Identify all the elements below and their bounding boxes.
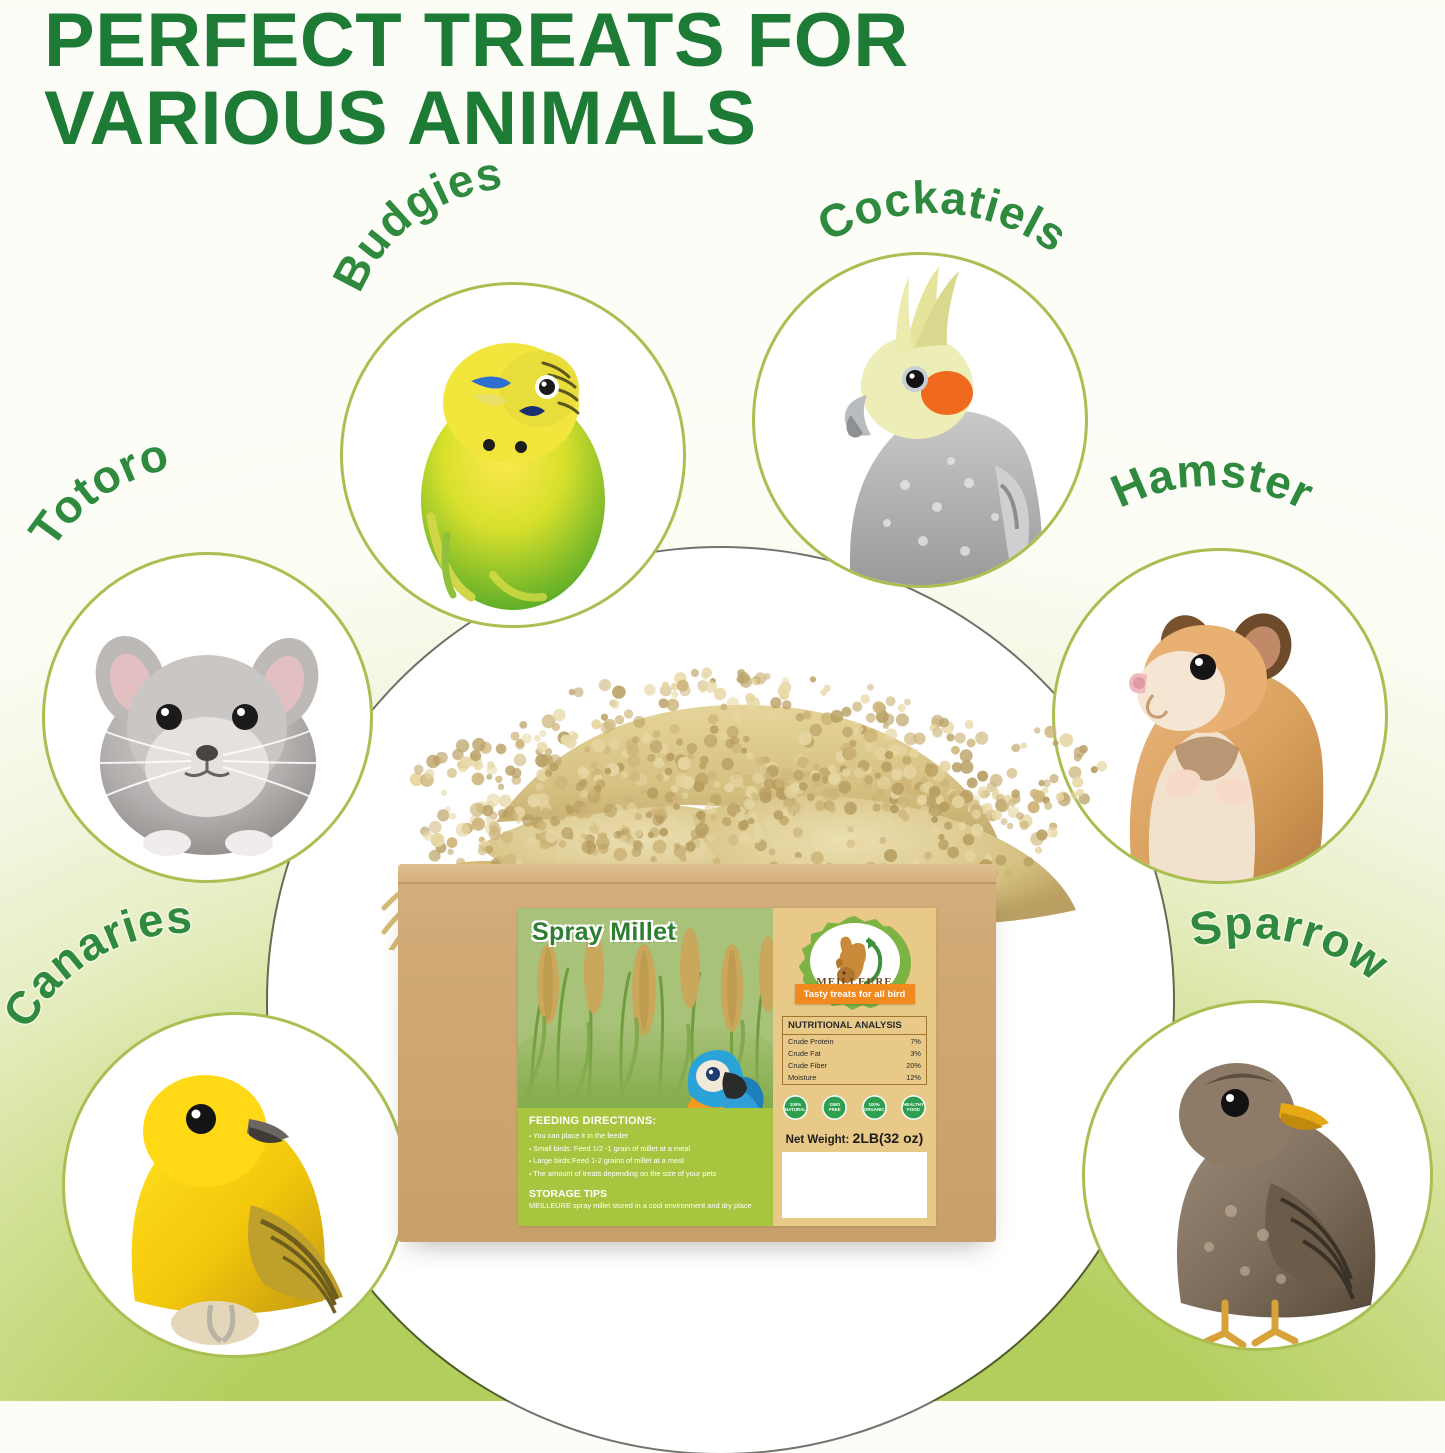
cert-line2: ORGANIC bbox=[864, 1108, 885, 1113]
infographic-canvas: PERFECT TREATS FOR VARIOUS ANIMALS bbox=[0, 0, 1445, 1401]
nutrition-title: NUTRITIONAL ANALYSIS bbox=[783, 1017, 926, 1035]
nutrition-name: Crude Fiber bbox=[783, 1059, 882, 1071]
brand-seal: MEILLEURE Tasty treats for all bird bbox=[799, 916, 911, 1010]
product-label: Spray Millet bbox=[518, 908, 936, 1226]
pet-label-hamster-text: Hamster bbox=[1103, 443, 1322, 519]
net-weight-value: 2LB(32 oz) bbox=[853, 1130, 924, 1146]
nutrition-table: NUTRITIONAL ANALYSIS Crude Protein 7% Cr… bbox=[782, 1016, 927, 1085]
nutrition-rows: Crude Protein 7% Crude Fat 3% Crude Fibe… bbox=[783, 1035, 926, 1084]
net-weight-label: Net Weight: bbox=[786, 1134, 850, 1146]
label-artwork-panel: Spray Millet bbox=[518, 908, 773, 1226]
page-title: PERFECT TREATS FOR VARIOUS ANIMALS bbox=[44, 2, 1044, 159]
certification-badges: 100% NATURAL GMO FREE 100% ORGANIC HEA bbox=[783, 1095, 926, 1120]
nutrition-value: 12% bbox=[882, 1072, 926, 1084]
feeding-directions-list: You can place it in the feeder Small bir… bbox=[529, 1130, 764, 1181]
storage-tips-text: MEILLEURE spray millet stored in a cool … bbox=[529, 1201, 764, 1211]
cert-badge-healthy: HEALTHY FOOD bbox=[901, 1095, 926, 1120]
pet-circle-cockatiels bbox=[752, 252, 1088, 588]
nutrition-value: 3% bbox=[882, 1047, 926, 1059]
label-info-panel: MEILLEURE Tasty treats for all bird NUTR… bbox=[773, 908, 936, 1226]
pet-label-budgies-text: Budgies bbox=[322, 146, 506, 299]
nutrition-name: Crude Fat bbox=[783, 1047, 882, 1059]
nutrition-name: Crude Protein bbox=[783, 1035, 882, 1047]
cert-badge-gmo-free: GMO FREE bbox=[822, 1095, 847, 1120]
nutrition-value: 7% bbox=[882, 1035, 926, 1047]
pet-label-totoro: Totoro bbox=[40, 448, 340, 568]
page-title-line2: VARIOUS ANIMALS bbox=[44, 80, 1044, 158]
feeding-item: Small birds: Feed 1/2 -1 grain of millet… bbox=[529, 1143, 764, 1156]
product-title: Spray Millet bbox=[532, 918, 765, 947]
blank-info-panel bbox=[782, 1152, 927, 1218]
sparrow-illustration bbox=[1085, 1003, 1430, 1348]
pet-label-cockatiels-text: Cockatiels bbox=[809, 171, 1077, 262]
pet-circle-sparrow bbox=[1082, 1000, 1433, 1351]
nutrition-value: 20% bbox=[882, 1059, 926, 1071]
feeding-item: You can place it in the feeder bbox=[529, 1130, 764, 1143]
cert-line2: FREE bbox=[829, 1108, 841, 1113]
cert-badge-organic: 100% ORGANIC bbox=[862, 1095, 887, 1120]
nutrition-row: Crude Fiber 20% bbox=[783, 1059, 926, 1071]
product-box: Spray Millet bbox=[398, 882, 996, 1242]
cert-line2: NATURAL bbox=[785, 1108, 806, 1113]
storage-tips-title: STORAGE TIPS bbox=[529, 1188, 764, 1200]
pet-label-sparrow-text: Sparrow bbox=[1185, 896, 1399, 990]
nutrition-row: Moisture 12% bbox=[783, 1072, 926, 1084]
feeding-directions: FEEDING DIRECTIONS: You can place it in … bbox=[518, 1108, 773, 1226]
page-title-line1: PERFECT TREATS FOR bbox=[44, 0, 909, 83]
net-weight: Net Weight: 2LB(32 oz) bbox=[773, 1130, 936, 1146]
product-composition: Spray Millet bbox=[300, 650, 1130, 1270]
nutrition-name: Moisture bbox=[783, 1072, 882, 1084]
cockatiel-illustration bbox=[755, 255, 1085, 585]
nutrition-row: Crude Protein 7% bbox=[783, 1035, 926, 1047]
cert-badge-natural: 100% NATURAL bbox=[783, 1095, 808, 1120]
feeding-directions-title: FEEDING DIRECTIONS: bbox=[529, 1115, 764, 1127]
budgie-illustration bbox=[343, 285, 683, 625]
feeding-item: The amount of treats depending on the si… bbox=[529, 1168, 764, 1181]
nutrition-row: Crude Fat 3% bbox=[783, 1047, 926, 1059]
seal-ribbon-text: Tasty treats for all bird bbox=[795, 984, 915, 1004]
pet-circle-budgies bbox=[340, 282, 686, 628]
pet-label-totoro-text: Totoro bbox=[18, 427, 174, 555]
feeding-item: Large birds:Feed 1-2 grains of millet at… bbox=[529, 1155, 764, 1168]
box-seam bbox=[398, 882, 996, 884]
cert-line2: FOOD bbox=[907, 1108, 920, 1113]
